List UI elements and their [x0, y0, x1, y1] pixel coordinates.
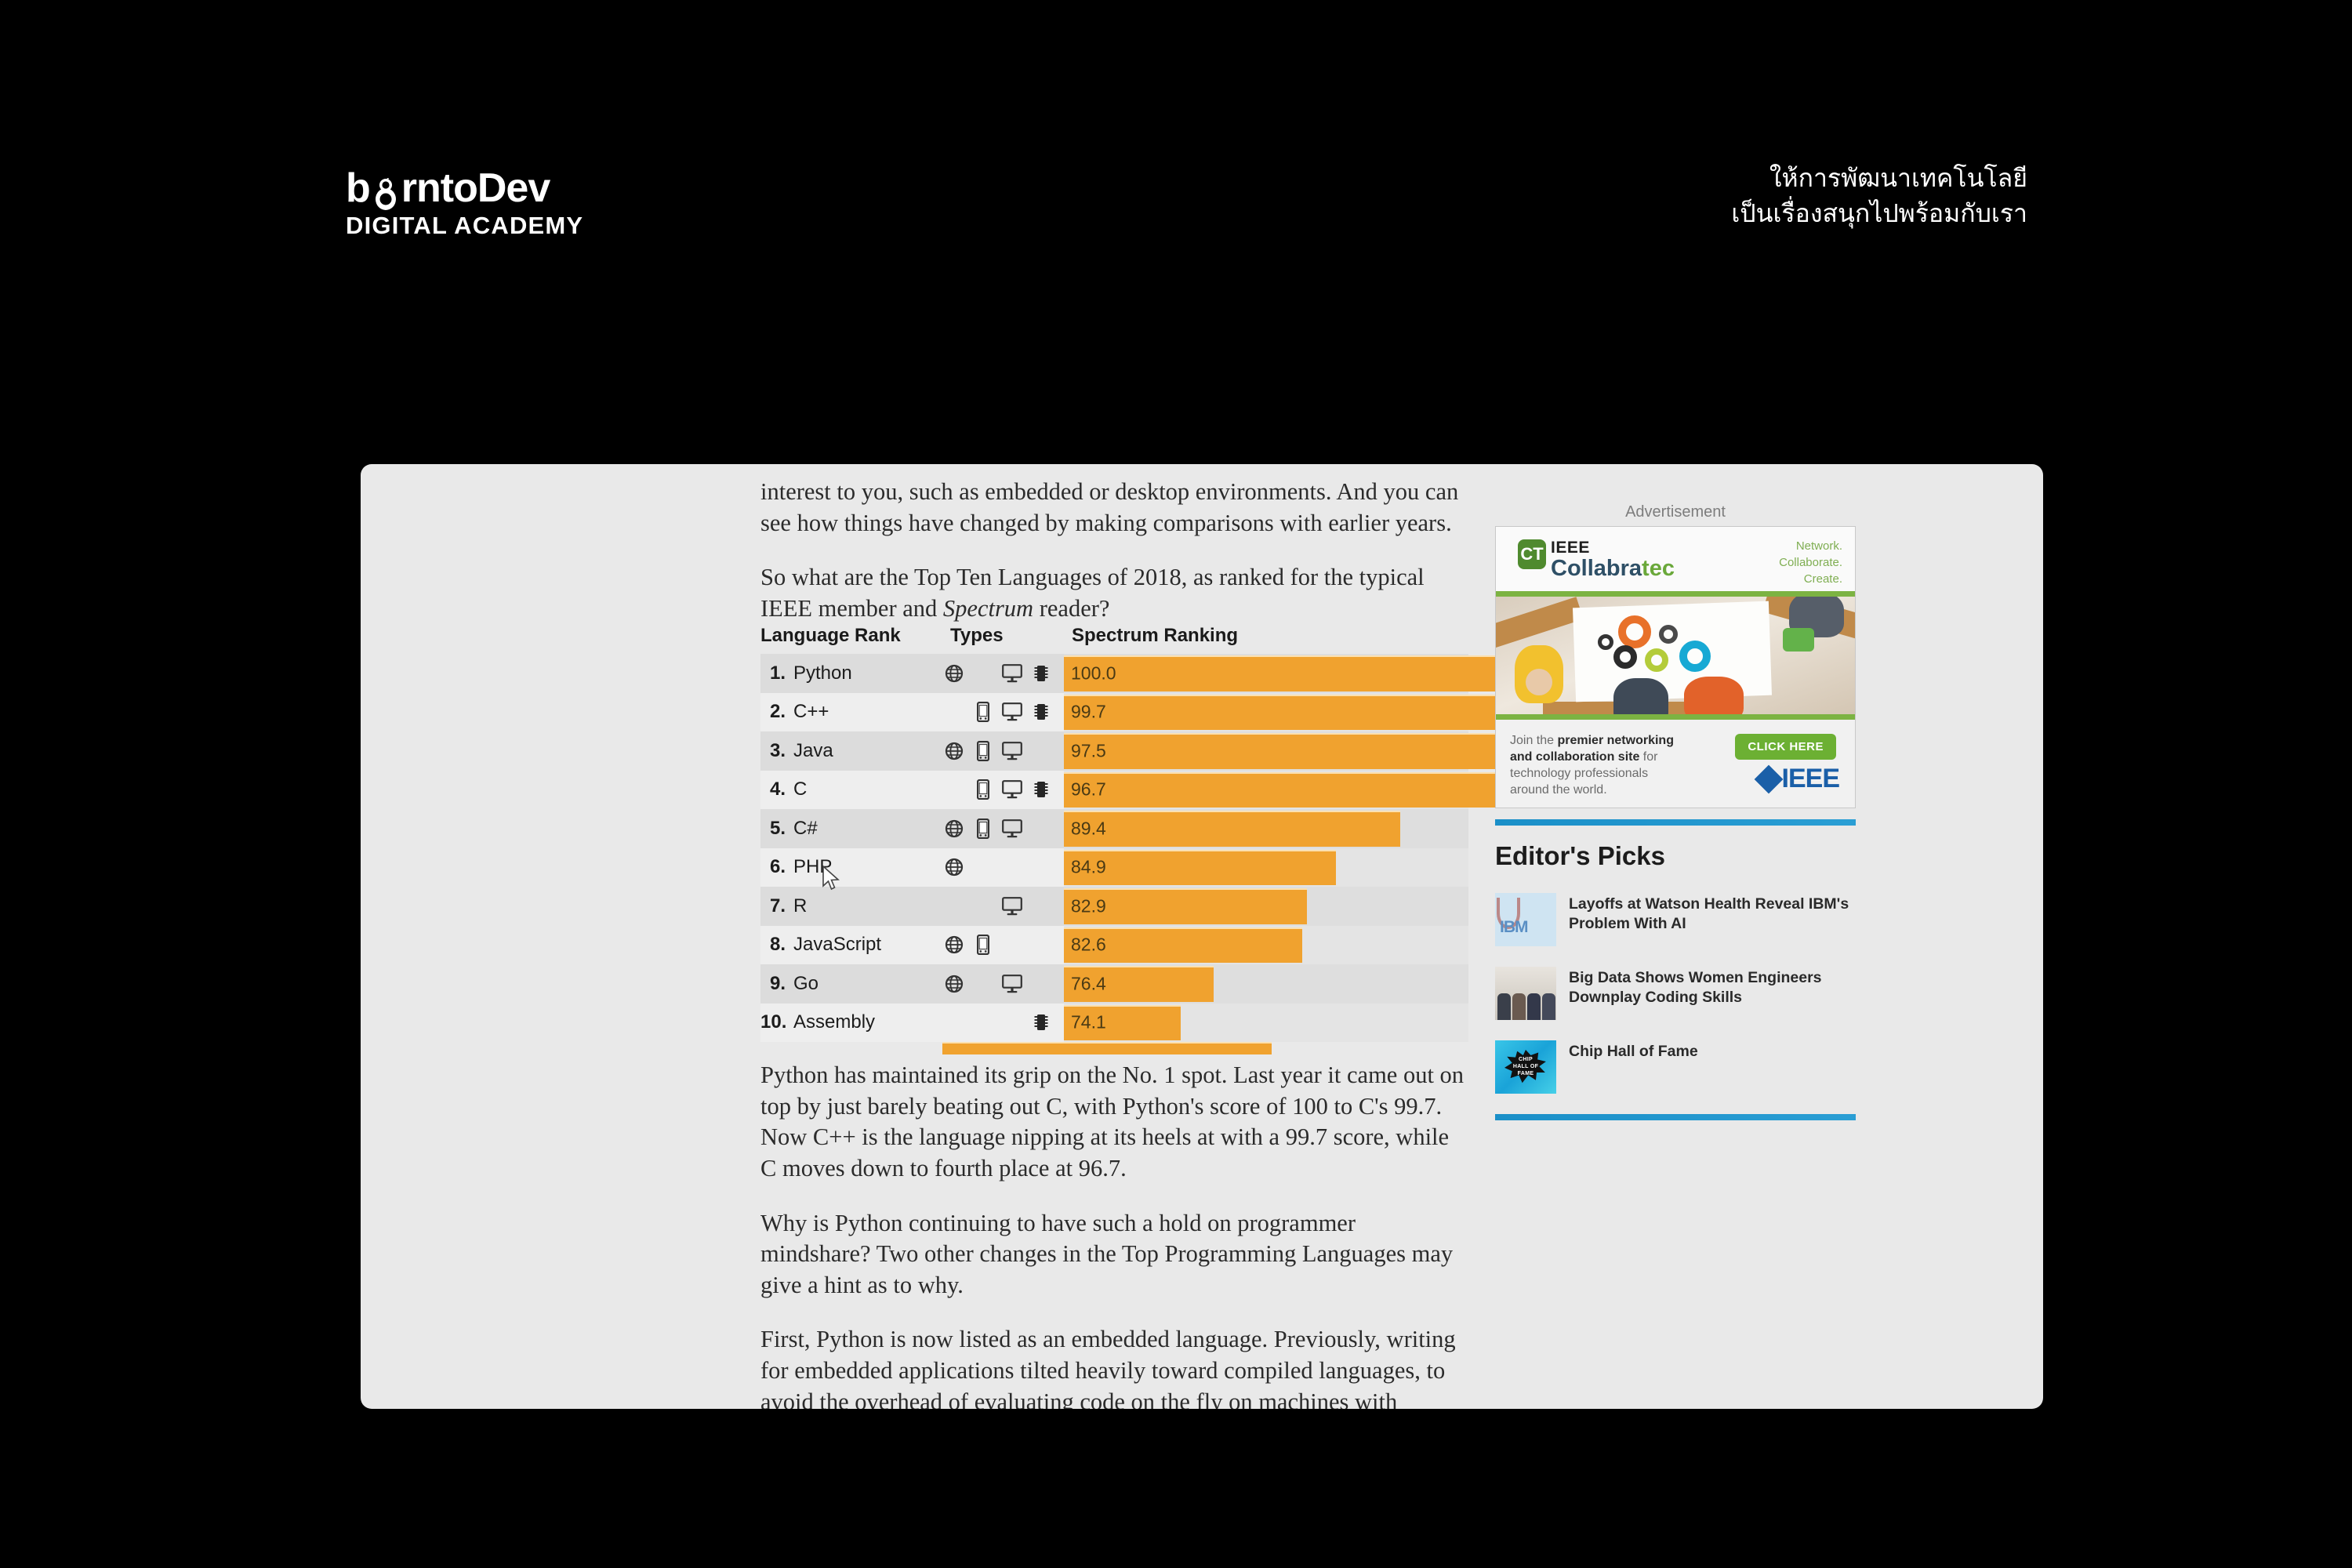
embedded-chip-icon [1033, 780, 1049, 799]
mobile-phone-icon [977, 935, 989, 955]
type-slot-embedded [1029, 896, 1053, 916]
type-slot-embedded [1029, 974, 1053, 994]
person-shape [1613, 678, 1668, 714]
desktop-monitor-icon [1002, 780, 1022, 799]
gear-icon [1618, 615, 1651, 648]
brand-part-b: tec [1642, 556, 1675, 581]
column-header-types: Types [950, 625, 1072, 647]
table-row[interactable]: 10.Assembly74.1 [760, 1004, 1468, 1043]
desktop-monitor-icon [1002, 975, 1022, 993]
table-row[interactable]: 7.R82.9 [760, 887, 1468, 926]
editors-picks-title: Editor's Picks [1495, 841, 1856, 871]
row-bar [1064, 655, 1552, 691]
type-slot-mobile [971, 741, 995, 761]
row-bar-track: 99.7 [1064, 693, 1468, 732]
type-slot-embedded [1029, 702, 1053, 722]
article-body: Python has maintained its grip on the No… [760, 1060, 1470, 1409]
ad-tagline: Network. Collaborate. Create. [1779, 538, 1842, 587]
ad-footer: Join the premier networking and collabor… [1496, 720, 1855, 808]
desk-shape [1496, 597, 1584, 648]
desktop-monitor-icon [1002, 897, 1022, 916]
row-bar-track: 76.4 [1064, 964, 1468, 1004]
type-slot-desktop [1000, 818, 1024, 839]
row-rank: 10. [760, 1011, 793, 1033]
tagline-line-2: เป็นเรื่องสนุกไปพร้อมกับเรา [1731, 196, 2027, 231]
person-shape [1542, 993, 1555, 1020]
type-slot-embedded [1029, 1012, 1053, 1033]
row-types [942, 974, 1064, 994]
row-rank: 2. [760, 701, 793, 723]
row-score-label: 84.9 [1071, 857, 1106, 878]
type-slot-desktop [1000, 896, 1024, 916]
type-slot-web [942, 974, 966, 994]
row-bar-track: 84.9 [1064, 848, 1468, 887]
top-languages-chart: Language Rank Types Spectrum Ranking 1.P… [760, 625, 1468, 1054]
type-slot-web [942, 741, 966, 761]
row-bar-track: 89.4 [1064, 809, 1468, 848]
globe-icon [945, 664, 964, 683]
plant-shape [1783, 628, 1814, 652]
row-bar [1064, 695, 1548, 731]
row-rank: 5. [760, 818, 793, 840]
row-bar-track: 100.0 [1064, 654, 1468, 693]
logo-subtitle: DIGITAL ACADEMY [346, 213, 583, 238]
mobile-phone-icon [977, 741, 989, 761]
person-shape [1512, 993, 1526, 1020]
type-slot-embedded [1029, 857, 1053, 877]
row-language-name: C++ [793, 701, 942, 723]
ad-copy-bold-2: and collaboration site [1510, 750, 1639, 764]
gear-icon [1598, 634, 1613, 650]
collabratec-mark: CT [1518, 539, 1546, 569]
tagline-line-1: ให้การพัฒนาเทคโนโลยี [1731, 161, 2027, 196]
row-score-label: 96.7 [1071, 779, 1106, 800]
table-row[interactable]: 3.Java97.5 [760, 731, 1468, 771]
row-score-label: 76.4 [1071, 973, 1106, 994]
row-score-label: 97.5 [1071, 740, 1106, 761]
paragraph-question: So what are the Top Ten Languages of 201… [760, 562, 1470, 624]
screenshot-panel: interest to you, such as embedded or des… [361, 464, 2043, 1409]
globe-icon [945, 858, 964, 877]
row-types [942, 741, 1064, 761]
row-types [942, 663, 1064, 684]
ad-photo [1496, 597, 1855, 714]
mouse-cursor-icon [822, 866, 842, 892]
advertisement-banner[interactable]: CT IEEE Collabratec Network. Collaborate… [1495, 526, 1856, 808]
type-slot-mobile [971, 1012, 995, 1033]
list-item-title: Chip Hall of Fame [1569, 1040, 1698, 1062]
type-slot-mobile [971, 935, 995, 955]
row-score-label: 99.7 [1071, 702, 1106, 723]
type-slot-web [942, 818, 966, 839]
ad-brand-name: Collabratec [1551, 557, 1675, 580]
row-rank: 8. [760, 934, 793, 956]
gear-icon [1645, 648, 1668, 672]
type-slot-web [942, 935, 966, 955]
type-slot-mobile [971, 818, 995, 839]
type-slot-mobile [971, 779, 995, 800]
webpage-content: interest to you, such as embedded or des… [361, 464, 2043, 1409]
row-types [942, 935, 1064, 955]
ieee-logo: IEEE [1759, 764, 1839, 794]
chick-icon [372, 178, 399, 211]
person-shape [1684, 677, 1744, 714]
list-item-title: Big Data Shows Women Engineers Downplay … [1569, 967, 1856, 1007]
row-types [942, 857, 1064, 877]
type-slot-desktop [1000, 779, 1024, 800]
type-slot-mobile [971, 857, 995, 877]
type-slot-mobile [971, 974, 995, 994]
globe-icon [945, 742, 964, 760]
ad-tagline-2: Collaborate. [1779, 554, 1842, 571]
chip-hall-of-fame-thumb: CHIPHALL OFFAME [1495, 1040, 1556, 1094]
row-rank: 4. [760, 779, 793, 800]
row-bar-track: 74.1 [1064, 1004, 1468, 1043]
ad-ieee-text: IEEE [1551, 539, 1675, 556]
paragraph-python-grip: Python has maintained its grip on the No… [760, 1060, 1470, 1185]
brand-header: b rntoDev DIGITAL ACADEMY ให้การพัฒนาเทค… [0, 0, 2352, 329]
table-row[interactable]: 6.PHP84.9 [760, 848, 1468, 887]
ad-copy-bold-1: premier networking [1557, 734, 1673, 747]
row-language-name: C# [793, 818, 942, 840]
ibm-stethoscope-thumb: IBM [1495, 893, 1556, 946]
desktop-monitor-icon [1002, 702, 1022, 721]
ad-tagline-1: Network. [1779, 538, 1842, 554]
brand-tagline: ให้การพัฒนาเทคโนโลยี เป็นเรื่องสนุกไปพร้… [1731, 161, 2027, 232]
collabratec-logo: CT IEEE Collabratec [1518, 539, 1675, 580]
row-rank: 9. [760, 973, 793, 995]
row-bar [1064, 772, 1505, 808]
type-slot-desktop [1000, 1012, 1024, 1033]
borntodev-logo: b rntoDev DIGITAL ACADEMY [346, 168, 583, 238]
row-bar [1064, 733, 1517, 769]
brand-part-a: Collabra [1551, 556, 1642, 581]
embedded-chip-icon [1033, 1013, 1049, 1032]
type-slot-embedded [1029, 663, 1053, 684]
row-language-name: R [793, 895, 942, 917]
desktop-monitor-icon [1002, 742, 1022, 760]
gear-icon [1659, 625, 1678, 644]
section-divider-top [1495, 819, 1856, 826]
row-rank: 6. [760, 856, 793, 878]
row-language-name: JavaScript [793, 934, 942, 956]
logo-wordmark-pre: b [346, 165, 370, 211]
partial-bar [942, 1042, 1272, 1054]
intro-tail: reader? [1033, 595, 1109, 622]
type-slot-web [942, 857, 966, 877]
row-score-label: 100.0 [1071, 662, 1116, 684]
row-score-label: 82.6 [1071, 935, 1106, 956]
chart-header-row: Language Rank Types Spectrum Ranking [760, 625, 1468, 654]
table-row[interactable]: 8.JavaScript82.6 [760, 926, 1468, 965]
paper-shape [1573, 601, 1772, 702]
ad-green-divider [1496, 591, 1855, 597]
mobile-phone-icon [977, 779, 989, 800]
logo-wordmark-post: rntoDev [401, 165, 550, 211]
globe-icon [945, 819, 964, 838]
ad-header: CT IEEE Collabratec Network. Collaborate… [1496, 527, 1855, 591]
table-row[interactable]: 1.Python100.0 [760, 654, 1468, 693]
row-score-label: 74.1 [1071, 1012, 1106, 1033]
ieee-diamond-icon [1754, 764, 1783, 793]
type-slot-mobile [971, 663, 995, 684]
row-types [942, 779, 1064, 800]
row-language-name: Go [793, 973, 942, 995]
row-rank: 3. [760, 740, 793, 762]
person-shape [1527, 993, 1541, 1020]
paragraph-mindshare: Why is Python continuing to have such a … [760, 1208, 1470, 1301]
row-bar-track: 82.9 [1064, 887, 1468, 926]
row-language-name: C [793, 779, 942, 800]
article-column: interest to you, such as embedded or des… [760, 477, 1470, 648]
list-item-title: Layoffs at Watson Health Reveal IBM's Pr… [1569, 893, 1856, 934]
row-types [942, 1012, 1064, 1033]
row-rank: 7. [760, 895, 793, 917]
mobile-phone-icon [977, 702, 989, 722]
type-slot-mobile [971, 896, 995, 916]
desktop-monitor-icon [1002, 819, 1022, 838]
desktop-monitor-icon [1002, 664, 1022, 683]
embedded-chip-icon [1033, 702, 1049, 721]
section-divider-bottom [1495, 1114, 1856, 1120]
chart-row-partial [760, 1042, 1468, 1054]
list-item[interactable]: Big Data Shows Women Engineers Downplay … [1495, 967, 1856, 1020]
click-here-button[interactable]: CLICK HERE [1735, 734, 1836, 760]
person-shape [1497, 993, 1511, 1020]
row-bar-track: 82.6 [1064, 926, 1468, 965]
advertisement-label: Advertisement [1495, 503, 1856, 521]
column-header-language-rank: Language Rank [760, 625, 950, 647]
sidebar: Advertisement CT IEEE Collabratec Networ… [1495, 503, 1856, 1120]
type-slot-embedded [1029, 818, 1053, 839]
type-slot-web [942, 779, 966, 800]
ieee-logo-text: IEEE [1782, 764, 1839, 794]
type-slot-web [942, 1012, 966, 1033]
table-row[interactable]: 9.Go76.4 [760, 964, 1468, 1004]
globe-icon [945, 935, 964, 954]
person-head [1526, 669, 1552, 695]
row-types [942, 702, 1064, 722]
ad-copy-1: Join the [1510, 734, 1557, 747]
type-slot-embedded [1029, 779, 1053, 800]
type-slot-desktop [1000, 935, 1024, 955]
embedded-chip-icon [1033, 664, 1049, 683]
chip-hall-text: CHIPHALL OFFAME [1513, 1057, 1538, 1077]
logo-wordmark: b rntoDev [346, 168, 583, 209]
paragraph-intro: interest to you, such as embedded or des… [760, 477, 1470, 539]
row-bar-track: 97.5 [1064, 731, 1468, 771]
ibm-logo-text: IBM [1500, 918, 1528, 937]
type-slot-web [942, 702, 966, 722]
paragraph-embedded: First, Python is now listed as an embedd… [760, 1324, 1470, 1409]
list-item[interactable]: CHIPHALL OFFAMEChip Hall of Fame [1495, 1040, 1856, 1094]
row-language-name: Python [793, 662, 942, 684]
spectrum-italic: Spectrum [943, 595, 1033, 622]
ad-green-divider-2 [1496, 714, 1855, 720]
row-score-label: 82.9 [1071, 895, 1106, 916]
type-slot-desktop [1000, 741, 1024, 761]
editors-picks-list: IBMLayoffs at Watson Health Reveal IBM's… [1495, 893, 1856, 1094]
row-score-label: 89.4 [1071, 818, 1106, 839]
type-slot-desktop [1000, 663, 1024, 684]
type-slot-web [942, 896, 966, 916]
row-bar [1064, 811, 1400, 847]
table-row[interactable]: 5.C#89.4 [760, 809, 1468, 848]
ad-copy-text: Join the premier networking and collabor… [1510, 732, 1690, 798]
row-types [942, 818, 1064, 839]
row-rank: 1. [760, 662, 793, 684]
type-slot-mobile [971, 702, 995, 722]
type-slot-web [942, 663, 966, 684]
column-header-spectrum-ranking: Spectrum Ranking [1072, 625, 1468, 647]
row-bar-track: 96.7 [1064, 771, 1468, 810]
gear-icon [1679, 641, 1711, 672]
gear-icon [1613, 645, 1637, 669]
globe-icon [945, 975, 964, 993]
list-item[interactable]: IBMLayoffs at Watson Health Reveal IBM's… [1495, 893, 1856, 946]
table-row[interactable]: 2.C++99.7 [760, 693, 1468, 732]
mobile-phone-icon [977, 818, 989, 839]
table-row[interactable]: 4.C96.7 [760, 771, 1468, 810]
row-language-name: Assembly [793, 1011, 942, 1033]
row-types [942, 896, 1064, 916]
type-slot-desktop [1000, 974, 1024, 994]
chart-rows: 1.Python100.02.C++99.73.Java97.54.C96.75… [760, 654, 1468, 1042]
panel-photo-thumb [1495, 967, 1556, 1020]
type-slot-desktop [1000, 857, 1024, 877]
ad-tagline-3: Create. [1779, 571, 1842, 587]
row-language-name: Java [793, 740, 942, 762]
type-slot-embedded [1029, 741, 1053, 761]
type-slot-embedded [1029, 935, 1053, 955]
type-slot-desktop [1000, 702, 1024, 722]
row-language-name: PHP [793, 856, 942, 878]
